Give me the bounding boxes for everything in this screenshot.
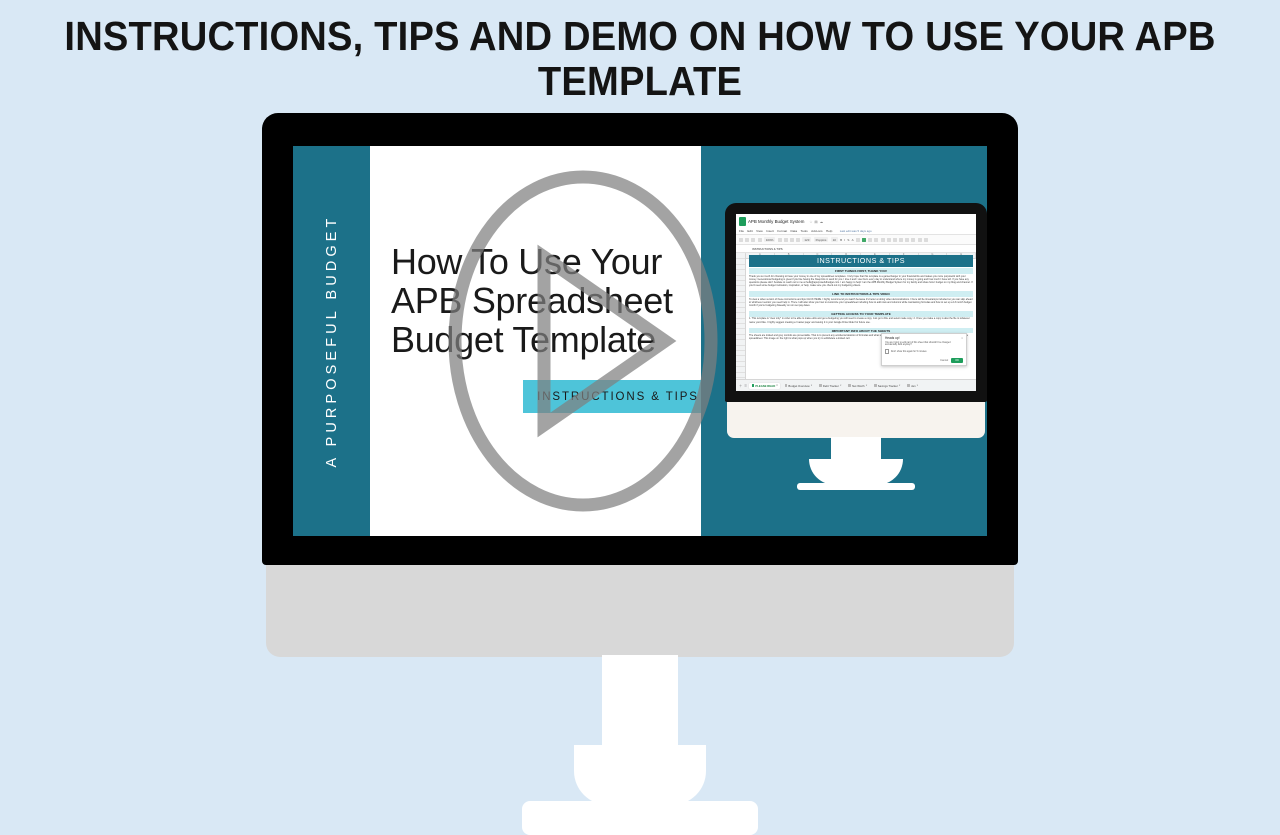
dialog-checkbox[interactable]: Don't show this again for 5 minutes	[885, 349, 963, 353]
menu-file[interactable]: File	[739, 229, 744, 233]
menu-view[interactable]: View	[756, 229, 763, 233]
sheet-tab-budget-overview[interactable]: Budget Overview ▾	[782, 383, 814, 389]
inner-monitor-screen: APB Monthly Budget System ☆ ▤ ☁ File Edi…	[736, 214, 976, 391]
sheet-tab-savings-tracker[interactable]: Savings Tracker ▾	[872, 383, 903, 389]
menu-help[interactable]: Help	[826, 229, 832, 233]
instructions-and-tips-button[interactable]: INSTRUCTIONS & TIPS	[523, 380, 713, 413]
sheet-tab-color-dot	[819, 384, 822, 387]
menu-edit[interactable]: Edit	[747, 229, 752, 233]
strikethrough-button[interactable]: S	[847, 238, 849, 242]
insert-link-icon[interactable]	[899, 238, 903, 242]
sheet-tab-color-dot	[907, 384, 910, 387]
outer-monitor-stand-neck	[602, 655, 678, 805]
insert-chart-icon[interactable]	[911, 238, 915, 242]
chevron-down-icon[interactable]: ▾	[866, 384, 867, 387]
locked-cell-dialog[interactable]: Heads up! × You are trying to edit part …	[881, 333, 967, 366]
slide-left-sidebar: A PURPOSEFUL BUDGET	[293, 146, 370, 536]
star-icon[interactable]: ☆	[809, 220, 812, 224]
print-icon[interactable]	[751, 238, 755, 242]
menu-tools[interactable]: Tools	[800, 229, 807, 233]
sheet-tab-label: Net Worth	[852, 384, 865, 388]
inner-monitor-illustration: APB Monthly Budget System ☆ ▤ ☁ File Edi…	[725, 203, 987, 494]
sheet-tab-label: Savings Tracker	[878, 384, 898, 388]
horizontal-align-icon[interactable]	[874, 238, 878, 242]
checkbox-icon[interactable]	[885, 349, 889, 353]
number-format-select[interactable]: 123	[802, 237, 811, 242]
redo-icon[interactable]	[745, 238, 749, 242]
undo-icon[interactable]	[739, 238, 743, 242]
sheet-tab-color-dot	[874, 384, 877, 387]
menu-data[interactable]: Data	[791, 229, 798, 233]
instructions-and-tips-button-label: INSTRUCTIONS & TIPS	[537, 391, 699, 403]
last-edit-status[interactable]: Last edit was 5 days ago	[840, 229, 872, 233]
chevron-down-icon[interactable]: ▾	[811, 384, 812, 387]
menu-addons[interactable]: Add-ons	[811, 229, 823, 233]
dialog-cancel-button[interactable]: Cancel	[940, 359, 948, 362]
text-wrap-icon[interactable]	[887, 238, 891, 242]
google-sheets-window: APB Monthly Budget System ☆ ▤ ☁ File Edi…	[736, 214, 976, 391]
section-heading-3: GETTING ACCESS TO YOUR TEMPLATE	[749, 311, 973, 317]
close-icon[interactable]: ×	[961, 336, 963, 340]
chevron-down-icon[interactable]: ▾	[776, 384, 777, 387]
sheet-tab-label: Jan	[911, 384, 916, 388]
paint-format-icon[interactable]	[758, 238, 762, 242]
dialog-actions[interactable]: Cancel OK	[940, 358, 963, 363]
add-sheet-icon[interactable]: ＋	[739, 383, 742, 388]
google-sheets-icon	[739, 217, 746, 226]
section-body-1: Thank you so much for choosing to have y…	[749, 275, 973, 287]
row-number-gutter	[736, 254, 746, 380]
text-color-button[interactable]: A	[852, 238, 854, 242]
vertical-align-icon[interactable]	[881, 238, 885, 242]
inner-monitor-stand-base	[797, 483, 915, 490]
insert-comment-icon[interactable]	[905, 238, 909, 242]
chevron-down-icon[interactable]: ▾	[840, 384, 841, 387]
sheet-tab-color-dot	[848, 384, 851, 387]
percent-icon[interactable]	[784, 238, 788, 242]
menu-format[interactable]: Format	[777, 229, 787, 233]
chevron-down-icon[interactable]: ▾	[917, 384, 918, 387]
sheet-tab-please-read[interactable]: PLEASE READ ▾	[749, 383, 780, 389]
sheet-tab-bar[interactable]: ＋ ☰ PLEASE READ ▾ Budget Overview ▾	[736, 379, 976, 391]
dialog-title: Heads up!	[885, 336, 963, 340]
spreadsheet-document-title[interactable]: APB Monthly Budget System	[748, 219, 804, 224]
sheet-body: INSTRUCTIONS & TIPS FIRST THINGS FIRST, …	[736, 254, 976, 380]
sheet-tab-jan[interactable]: Jan ▾	[905, 383, 921, 389]
all-sheets-icon[interactable]: ☰	[744, 384, 747, 388]
page-title: INSTRUCTIONS, TIPS AND DEMO ON HOW TO US…	[45, 14, 1235, 104]
video-thumbnail-slide: A PURPOSEFUL BUDGET How To Use Your APB …	[293, 146, 987, 536]
formula-bar[interactable]: INSTRUCTIONS & TIPS	[736, 245, 976, 253]
move-icon[interactable]: ▤	[814, 220, 817, 224]
sheet-tab-net-worth[interactable]: Net Worth ▾	[846, 383, 870, 389]
outer-monitor-screen: A PURPOSEFUL BUDGET How To Use Your APB …	[293, 146, 987, 536]
sheet-tab-color-dot	[785, 384, 788, 387]
chevron-down-icon[interactable]: ▾	[899, 384, 900, 387]
dialog-checkbox-label: Don't show this again for 5 minutes	[891, 351, 927, 353]
sheet-tab-label: Budget Overview	[788, 384, 809, 388]
sheet-tab-debt-tracker[interactable]: Debt Tracker ▾	[817, 383, 844, 389]
bold-button[interactable]: B	[840, 238, 842, 242]
sheet-tab-label: PLEASE READ	[755, 384, 775, 388]
sheet-tab-label: Debt Tracker	[823, 384, 839, 388]
filter-icon[interactable]	[918, 238, 922, 242]
font-size-select[interactable]: 10	[831, 237, 838, 242]
sheets-titlebar: APB Monthly Budget System ☆ ▤ ☁	[736, 214, 976, 228]
functions-icon[interactable]	[924, 238, 928, 242]
dialog-ok-button[interactable]: OK	[951, 358, 963, 363]
italic-button[interactable]: I	[844, 238, 845, 242]
section-heading-1: FIRST THINGS FIRST, THANK YOU!	[749, 268, 973, 274]
zoom-level-select[interactable]: 100%	[764, 237, 776, 242]
slide-center-panel: How To Use Your APB Spreadsheet Budget T…	[370, 146, 701, 536]
fill-color-icon[interactable]	[856, 238, 860, 242]
outer-monitor-illustration: A PURPOSEFUL BUDGET How To Use Your APB …	[262, 113, 1018, 720]
decrease-decimal-icon[interactable]	[790, 238, 794, 242]
section-body-2: To view a video version of these instruc…	[749, 298, 973, 307]
outer-monitor-chin	[266, 565, 1014, 657]
brand-name-vertical: A PURPOSEFUL BUDGET	[324, 214, 340, 467]
currency-icon[interactable]	[778, 238, 782, 242]
sheet-banner-title: INSTRUCTIONS & TIPS	[749, 255, 973, 267]
formula-bar-value[interactable]: INSTRUCTIONS & TIPS	[752, 247, 783, 251]
sheets-toolbar[interactable]: 100% 123 Poppins 10 B I S A	[736, 234, 976, 245]
text-rotation-icon[interactable]	[893, 238, 897, 242]
font-family-select[interactable]: Poppins	[814, 237, 829, 242]
outer-monitor-stand-base	[522, 801, 758, 835]
inner-monitor-chin	[727, 402, 985, 438]
increase-decimal-icon[interactable]	[796, 238, 800, 242]
merge-cells-icon[interactable]	[868, 238, 872, 242]
dialog-body: You are trying to edit part of this shee…	[885, 342, 963, 348]
menu-insert[interactable]: Insert	[766, 229, 774, 233]
inner-monitor-stand-neck	[831, 437, 881, 485]
titlebar-action-icons[interactable]: ☆ ▤ ☁	[809, 220, 823, 224]
sheet-tab-color-dot	[752, 384, 755, 387]
section-heading-2: LINK TO INSTRUCTIONS & TIPS VIDEO	[749, 291, 973, 297]
borders-icon[interactable]	[862, 238, 866, 242]
cloud-icon[interactable]: ☁	[820, 220, 823, 224]
